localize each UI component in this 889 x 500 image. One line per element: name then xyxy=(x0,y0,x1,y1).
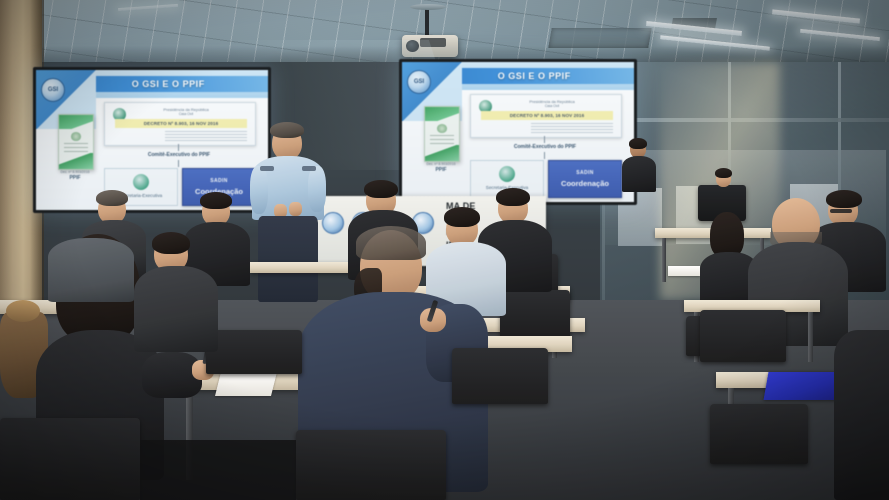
booklet-coat-of-arms-icon xyxy=(71,132,81,141)
booklet-bottom-wedge xyxy=(425,145,459,161)
ppif-booklet-graphic xyxy=(424,106,460,162)
projector-vent xyxy=(420,38,446,47)
hair xyxy=(496,188,530,206)
chair-mid-left xyxy=(206,330,302,374)
org-connector-line xyxy=(178,160,179,167)
decree-body-text xyxy=(165,131,247,142)
desk-leg xyxy=(662,238,666,282)
chair-shadow xyxy=(140,440,296,500)
gsi-logo-label: GSI xyxy=(48,87,58,93)
chair xyxy=(710,404,808,464)
secretaria-seal-icon xyxy=(499,166,515,182)
torso xyxy=(834,330,889,500)
ppif-booklet-graphic xyxy=(58,114,94,170)
torso xyxy=(134,266,218,352)
comite-executivo-label: Comitê-Executivo do PPIF xyxy=(118,152,240,158)
decree-body-text xyxy=(531,123,613,134)
hair-balding xyxy=(356,226,426,260)
hair xyxy=(152,232,190,254)
booklet-caption: PPIF xyxy=(50,175,100,181)
sadin-title: SADIN xyxy=(210,178,228,184)
hair xyxy=(715,168,732,178)
slide-left: O GSI E O PPIF GSI Dec. nº 8.903/2016 PP… xyxy=(36,70,268,210)
decree-header-sub: Casa Civil xyxy=(497,104,607,108)
handbag-strap xyxy=(6,300,40,322)
projection-screen-right: O GSI E O PPIF GSI Dec. nº 8.903/2016 PP… xyxy=(402,62,634,202)
slide-title: O GSI E O PPIF xyxy=(87,76,249,91)
org-connector-line xyxy=(178,144,179,151)
booklet-caption: PPIF xyxy=(416,167,466,173)
hair xyxy=(826,190,862,208)
sadin-coordenacao-box: SADIN Coordenação xyxy=(548,160,622,198)
paper-sheet xyxy=(215,372,277,396)
presenter-hand-right xyxy=(289,202,302,216)
chair-foreground-center xyxy=(296,430,446,500)
hair xyxy=(444,207,480,227)
slide-right: O GSI E O PPIF GSI Dec. nº 8.903/2016 PP… xyxy=(402,62,634,202)
org-connector-line xyxy=(544,136,545,143)
booklet-bottom-wedge xyxy=(59,153,93,169)
eyeglasses-icon xyxy=(830,209,852,213)
slide-title: O GSI E O PPIF xyxy=(453,68,615,83)
banner-logo-icon xyxy=(322,212,344,234)
presenter-rank-insignia-icon xyxy=(260,166,274,171)
hair xyxy=(200,192,232,209)
torso-grey xyxy=(48,238,134,302)
projector-lens xyxy=(406,40,419,52)
gsi-logo-label: GSI xyxy=(414,79,424,85)
projection-screen-left: O GSI E O PPIF GSI Dec. nº 8.903/2016 PP… xyxy=(36,70,268,210)
paper-on-back-desk xyxy=(668,266,700,276)
gsi-logo-icon: GSI xyxy=(41,78,65,102)
booklet-subcaption: Dec. nº 8.903/2016 xyxy=(50,170,100,174)
chair-mid-right xyxy=(452,348,548,404)
sadin-role: Coordenação xyxy=(561,179,609,188)
sadin-title: SADIN xyxy=(576,170,594,176)
comite-executivo-label: Comitê-Executivo do PPIF xyxy=(484,144,606,150)
hair xyxy=(629,138,647,149)
secretaria-seal-icon xyxy=(133,174,149,190)
decree-highlight: DECRETO Nº 8.903, 16 NOV 2016 xyxy=(115,119,247,128)
presenter-arm-left xyxy=(250,166,268,214)
ceiling-vent xyxy=(548,28,652,48)
booklet-title-lines xyxy=(430,135,454,147)
torso xyxy=(622,156,656,192)
booklet-subcaption: Dec. nº 8.903/2016 xyxy=(416,162,466,166)
projector-ceiling-plate xyxy=(410,4,446,10)
presenter-rank-insignia-icon xyxy=(302,166,316,171)
booklet-coat-of-arms-icon xyxy=(437,124,447,133)
presenter-hair xyxy=(270,122,304,138)
gsi-logo-icon: GSI xyxy=(407,70,431,94)
decree-card: Presidência da República Casa Civil DECR… xyxy=(104,102,256,146)
booklet-top-wedge xyxy=(59,115,93,129)
org-connector-line xyxy=(544,152,545,159)
hair xyxy=(364,180,398,198)
desk xyxy=(250,262,362,273)
presenter-arm-right xyxy=(308,166,326,212)
chair xyxy=(700,310,786,362)
projector-mount-stem xyxy=(425,8,429,36)
photo-scene: O GSI E O PPIF GSI Dec. nº 8.903/2016 PP… xyxy=(0,0,889,500)
decree-header-sub: Casa Civil xyxy=(131,112,241,116)
decree-card: Presidência da República Casa Civil DECR… xyxy=(470,94,622,138)
decree-highlight: DECRETO Nº 8.903, 16 NOV 2016 xyxy=(481,111,613,120)
booklet-top-wedge xyxy=(425,107,459,121)
desk-leg xyxy=(808,312,813,362)
booklet-title-lines xyxy=(64,143,88,155)
chair xyxy=(500,290,570,338)
chair-foreground-left xyxy=(0,418,140,500)
hair xyxy=(96,190,128,206)
presenter-trousers xyxy=(258,216,318,302)
